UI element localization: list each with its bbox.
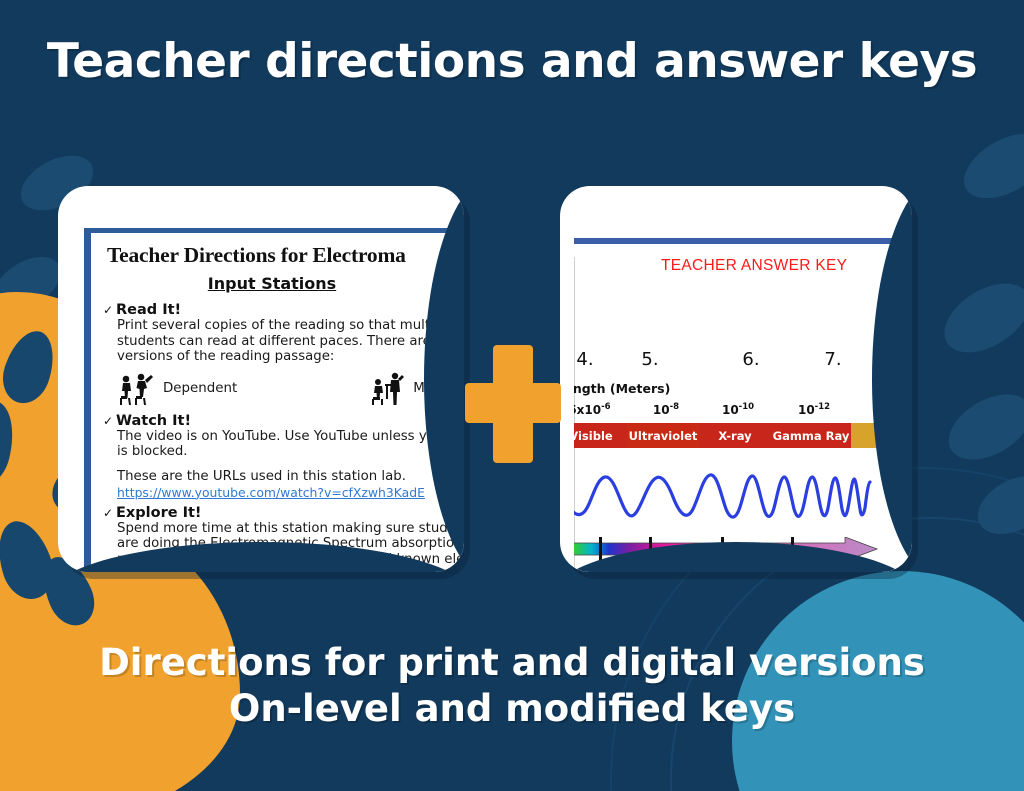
section-heading-text: Read It! <box>116 302 181 318</box>
pictogram-row: Dependent <box>117 372 464 406</box>
card-teacher-directions[interactable]: Teacher Directions for Electroma Input S… <box>58 186 464 572</box>
section-heading-watch-it: ✓Watch It! <box>103 413 464 429</box>
em-wave-graphic <box>574 463 875 533</box>
section-body-read-it: Print several copies of the reading so t… <box>117 318 464 365</box>
answer-number: 7. <box>797 349 869 370</box>
wavelength-tick-row: 0.5x10-6 10-8 10-10 10-12 <box>574 402 865 417</box>
wavelength-tick: 10 <box>653 403 670 417</box>
decor-leaf <box>932 269 1024 366</box>
teacher-student-desk-icon <box>371 372 407 406</box>
wavelength-exponent: -8 <box>670 402 679 412</box>
wavelength-exponent: -12 <box>815 402 830 412</box>
answer-number-row: 4. 5. 6. 7. <box>574 349 883 370</box>
wave-svg <box>574 463 875 533</box>
wavelength-axis-label: avelength (Meters) <box>574 381 670 396</box>
answer-key-title: TEACHER ANSWER KEY <box>661 257 912 275</box>
section-body-watch-it: The video is on YouTube. Use YouTube unl… <box>117 429 464 460</box>
spectrum-band: X-ray <box>699 423 771 448</box>
page-title: Teacher directions and answer keys <box>0 34 1024 89</box>
doc-subtitle: Input Stations <box>103 274 464 293</box>
decor-leaf-on-blob <box>0 395 22 493</box>
section-heading-explore-it: ✓Explore It! <box>103 505 464 521</box>
spectrum-band: Gamma Ray <box>771 423 851 448</box>
footer-line-2: On-level and modified keys <box>0 686 1024 732</box>
document-teacher-directions: Teacher Directions for Electroma Input S… <box>84 228 464 572</box>
answer-number: 4. <box>574 349 617 370</box>
decor-leaf-on-blob <box>0 325 62 410</box>
wavelength-exponent: -6 <box>601 402 610 412</box>
doc-title: Teacher Directions for Electroma <box>107 243 464 268</box>
card-answer-key[interactable]: TEACHER ANSWER KEY 4. 5. 6. 7. avelength… <box>560 186 912 572</box>
decor-leaf <box>953 120 1024 211</box>
document-answer-key: TEACHER ANSWER KEY 4. 5. 6. 7. avelength… <box>574 238 912 572</box>
students-running-icon <box>117 372 157 406</box>
wavelength-exponent: -10 <box>739 402 754 412</box>
slide-canvas: Teacher directions and answer keys Teach… <box>0 0 1024 791</box>
decor-leaf-on-blob <box>0 514 61 606</box>
section-heading-text: Watch It! <box>116 413 191 429</box>
checkmark-icon: ✓ <box>103 506 116 520</box>
em-spectrum-band-bar: d Visible Ultraviolet X-ray Gamma Ray <box>574 423 887 448</box>
spectrum-band: Ultraviolet <box>627 423 699 448</box>
section-body-urls: These are the URLs used in this station … <box>117 469 464 485</box>
youtube-url-link[interactable]: https://www.youtube.com/watch?v=cfXzwh3K… <box>117 485 464 500</box>
wavelength-tick: 10 <box>798 403 815 417</box>
pictogram-label-dependent: Dependent <box>163 381 237 396</box>
plus-horizontal-bar <box>465 383 561 423</box>
footer-line-1: Directions for print and digital version… <box>0 640 1024 686</box>
decor-leaf <box>938 381 1024 473</box>
section-heading-read-it: ✓Read It! <box>103 302 464 318</box>
wavelength-tick: 10 <box>722 403 739 417</box>
section-heading-text: Explore It! <box>116 505 202 521</box>
answer-number: 5. <box>617 349 683 370</box>
answer-number: 6. <box>715 349 787 370</box>
spectrum-band: Visible <box>574 423 627 448</box>
checkmark-icon: ✓ <box>103 414 116 428</box>
page-footer: Directions for print and digital version… <box>0 640 1024 732</box>
decor-leaf <box>968 464 1024 546</box>
checkmark-icon: ✓ <box>103 303 116 317</box>
wavelength-tick: 0.5x10 <box>574 403 601 417</box>
plus-sign-icon <box>465 345 561 463</box>
